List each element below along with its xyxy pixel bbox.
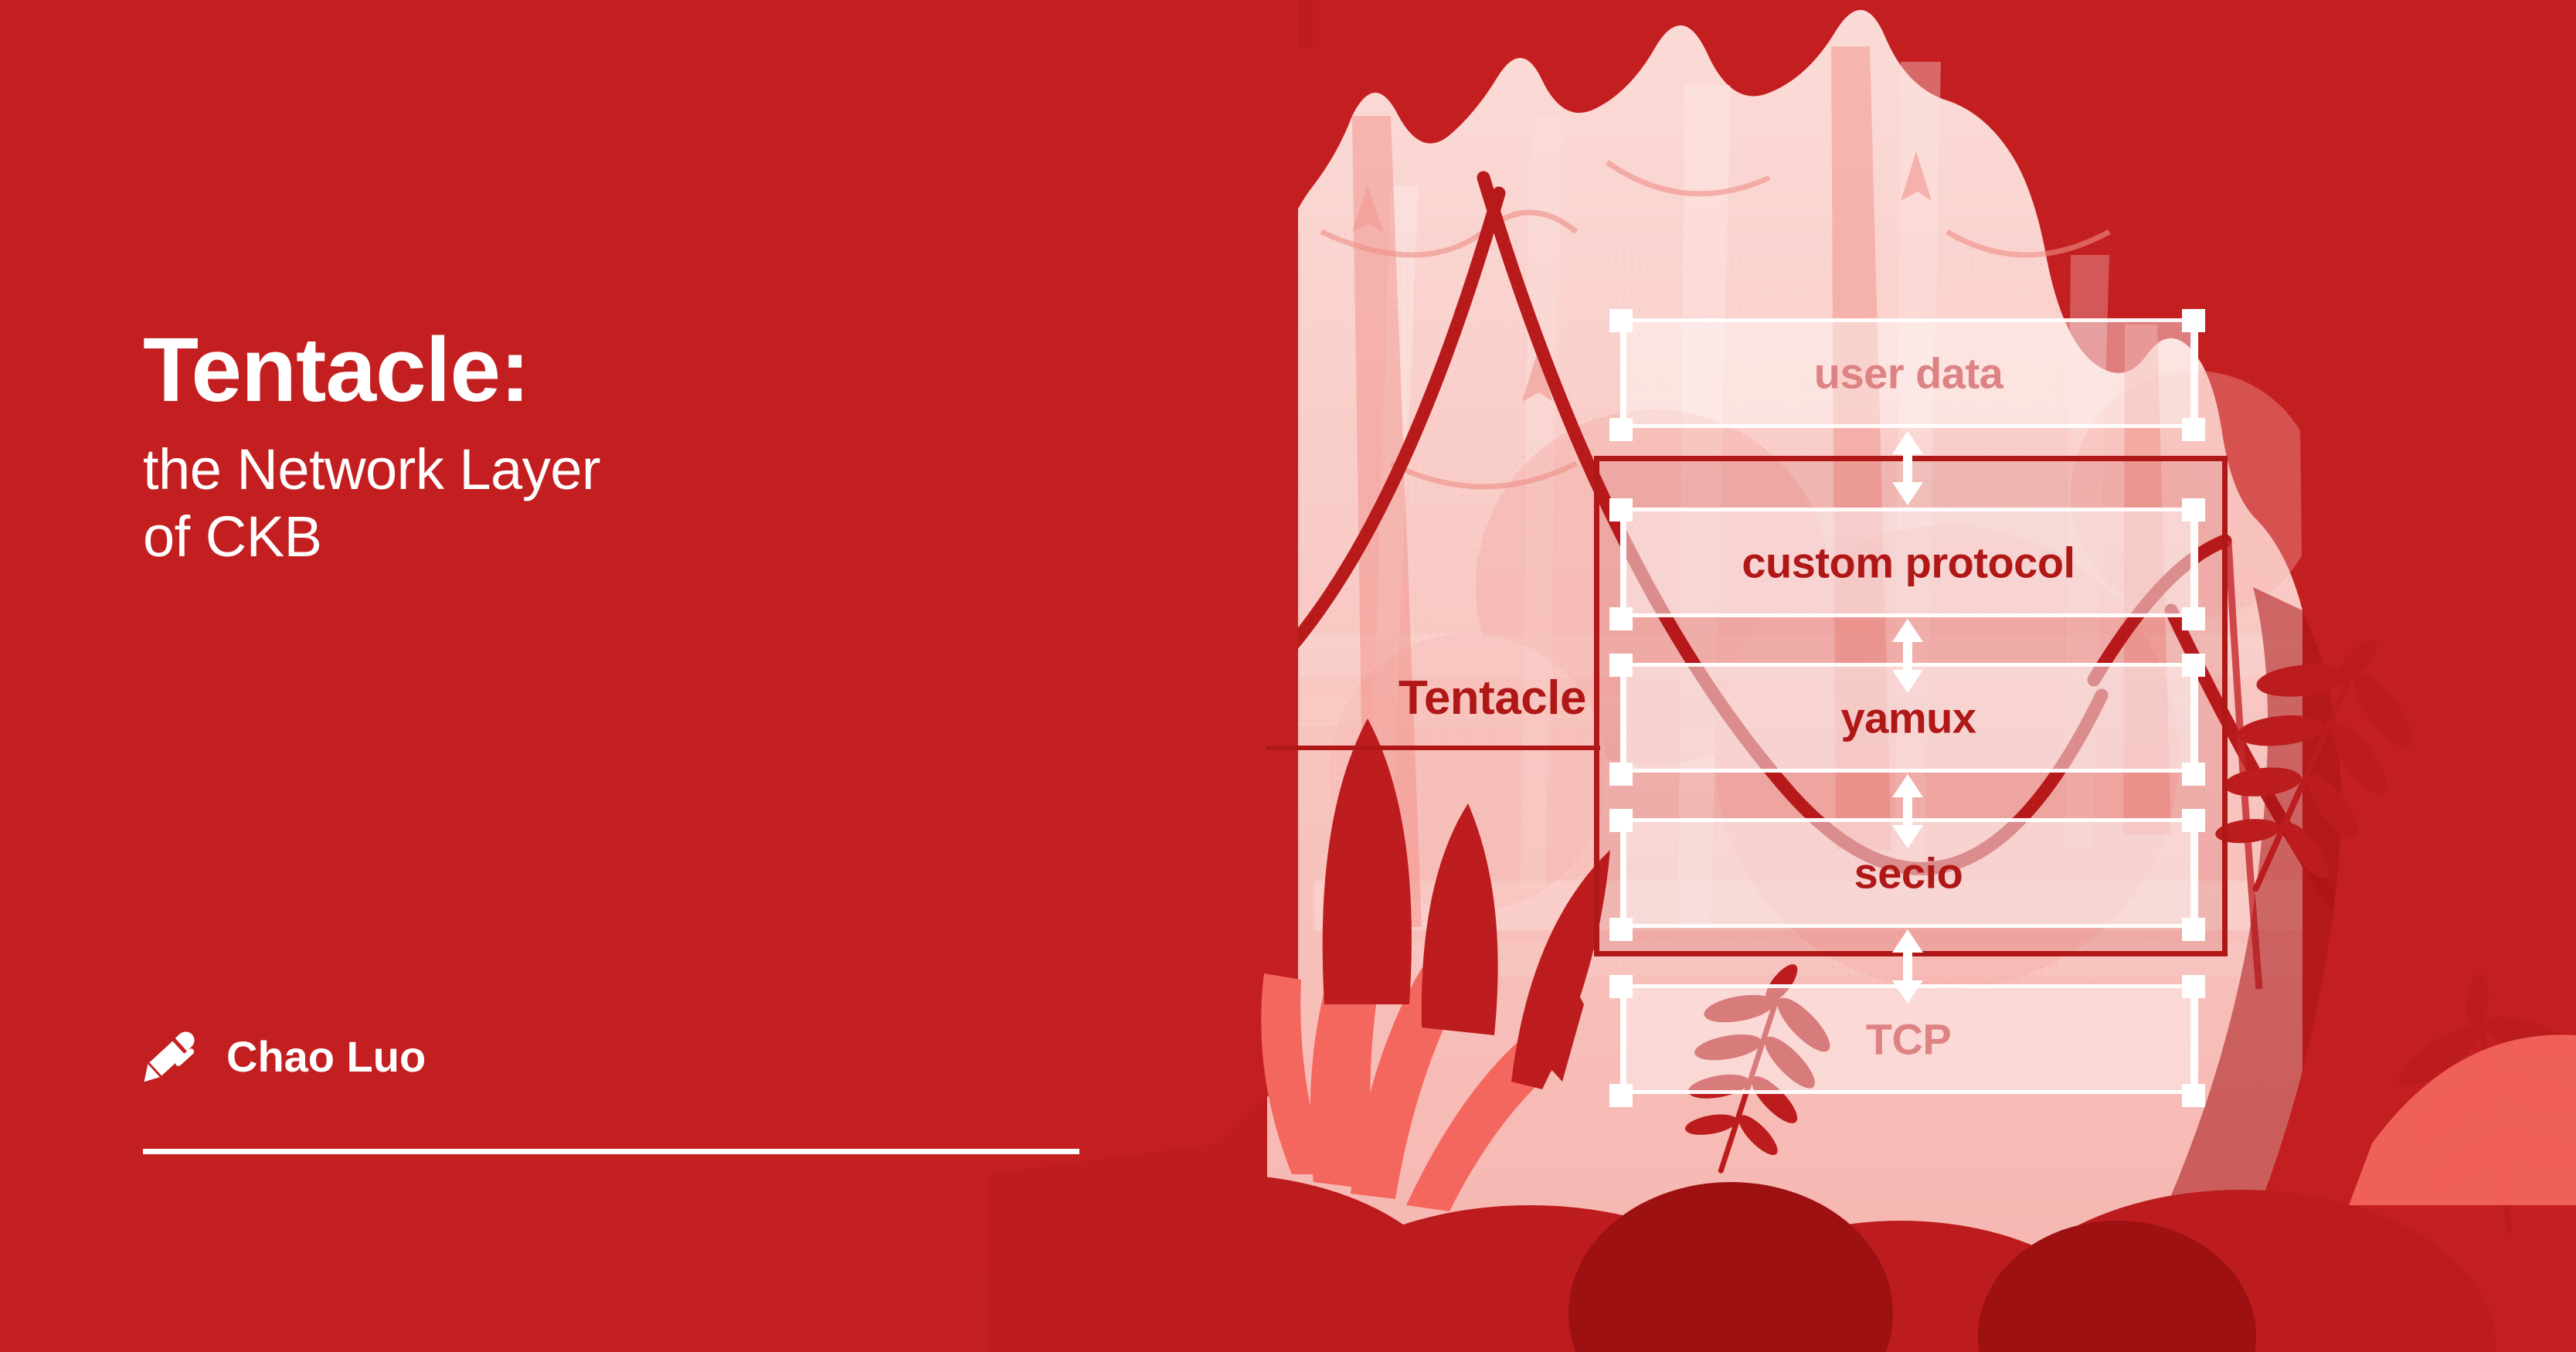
handle-yamux-tr[interactable] bbox=[2182, 654, 2205, 677]
title-subtitle-line1: the Network Layer bbox=[143, 436, 1055, 503]
handle-tcp-bl[interactable] bbox=[1609, 1084, 1633, 1107]
handle-yamux-br[interactable] bbox=[2182, 763, 2205, 786]
title-main: Tentacle: bbox=[143, 324, 1055, 416]
handle-user-data-tr[interactable] bbox=[2182, 309, 2205, 332]
cover-banner: Tentacle: the Network Layer of CKB Chao … bbox=[0, 0, 2576, 1352]
page-title: Tentacle: the Network Layer of CKB bbox=[143, 324, 1055, 571]
handle-custom-protocol-bl[interactable] bbox=[1609, 607, 1633, 630]
hero-text-panel: Tentacle: the Network Layer of CKB Chao … bbox=[0, 0, 1082, 1352]
layer-secio-label: secio bbox=[1626, 848, 2190, 899]
layer-custom-protocol-left-edge bbox=[1620, 508, 1626, 617]
handle-custom-protocol-br[interactable] bbox=[2182, 607, 2205, 630]
author-name: Chao Luo bbox=[226, 1031, 426, 1082]
layer-tcp-left-edge bbox=[1620, 984, 1626, 1094]
layer-user-data-label: user data bbox=[1626, 348, 2190, 399]
handle-secio-tl[interactable] bbox=[1609, 809, 1633, 832]
arrow-userdata-customprotocol bbox=[1891, 431, 1925, 505]
layer-yamux-left-edge bbox=[1620, 663, 1626, 773]
tentacle-label-leader-line bbox=[1266, 746, 1600, 750]
layer-yamux-label: yamux bbox=[1626, 693, 2190, 743]
handle-secio-br[interactable] bbox=[2182, 918, 2205, 941]
author-byline: Chao Luo bbox=[143, 1028, 426, 1085]
layer-secio[interactable]: secio bbox=[1623, 818, 2194, 928]
handle-tcp-br[interactable] bbox=[2182, 1084, 2205, 1107]
handle-user-data-tl[interactable] bbox=[1609, 309, 1633, 332]
layer-yamux[interactable]: yamux bbox=[1623, 663, 2194, 773]
layer-user-data[interactable]: user data bbox=[1623, 318, 2194, 428]
handle-yamux-tl[interactable] bbox=[1609, 654, 1633, 677]
handle-custom-protocol-tl[interactable] bbox=[1609, 498, 1633, 521]
title-subtitle-line2: of CKB bbox=[143, 503, 1055, 570]
handle-custom-protocol-tr[interactable] bbox=[2182, 498, 2205, 521]
handle-secio-tr[interactable] bbox=[2182, 809, 2205, 832]
layer-yamux-right-edge bbox=[2193, 663, 2198, 773]
pencil-icon bbox=[143, 1028, 200, 1085]
tentacle-group-label-text: Tentacle bbox=[1266, 671, 1591, 725]
handle-user-data-bl[interactable] bbox=[1609, 418, 1633, 441]
layer-secio-left-edge bbox=[1620, 818, 1626, 928]
layer-tcp[interactable]: TCP bbox=[1623, 984, 2194, 1094]
layer-user-data-right-edge bbox=[2193, 318, 2198, 428]
handle-yamux-bl[interactable] bbox=[1609, 763, 1633, 786]
layer-user-data-left-edge bbox=[1620, 318, 1626, 428]
handle-secio-bl[interactable] bbox=[1609, 918, 1633, 941]
layer-tcp-label: TCP bbox=[1626, 1014, 2190, 1065]
layer-secio-right-edge bbox=[2193, 818, 2198, 928]
tentacle-group-label: Tentacle bbox=[1266, 671, 1591, 725]
hero-divider bbox=[143, 1149, 1079, 1154]
layer-custom-protocol[interactable]: custom protocol bbox=[1623, 508, 2194, 617]
handle-user-data-br[interactable] bbox=[2182, 418, 2205, 441]
layer-custom-protocol-label: custom protocol bbox=[1626, 538, 2190, 588]
layer-tcp-right-edge bbox=[2193, 984, 2198, 1094]
handle-tcp-tr[interactable] bbox=[2182, 975, 2205, 998]
layer-custom-protocol-right-edge bbox=[2193, 508, 2198, 617]
handle-tcp-tl[interactable] bbox=[1609, 975, 1633, 998]
title-subtitle: the Network Layer of CKB bbox=[143, 436, 1055, 571]
